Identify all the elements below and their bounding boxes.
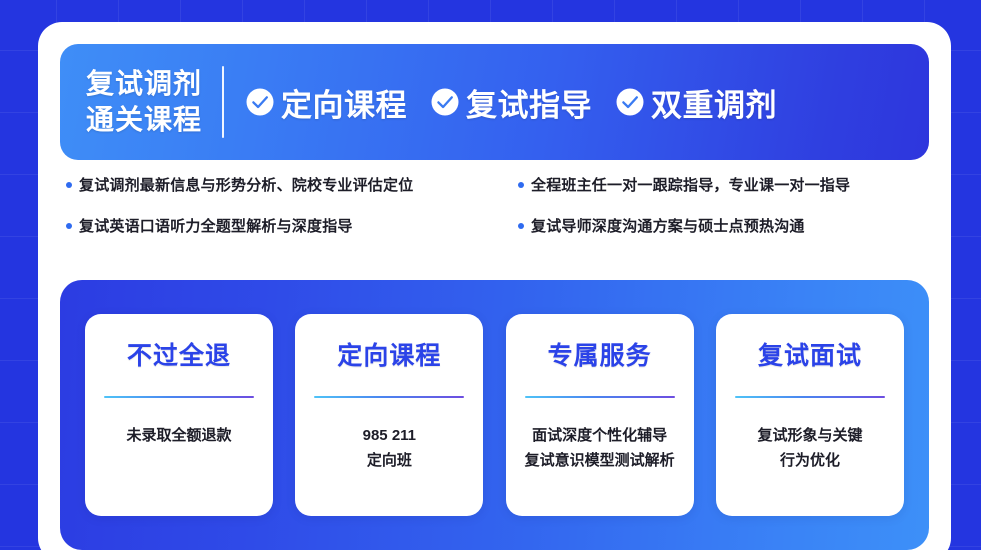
- card-body-line: 未录取全额退款: [126, 424, 231, 449]
- info-card-4: 复试面试 复试形象与关键 行为优化: [716, 314, 904, 516]
- card-divider: [314, 396, 464, 398]
- bullet-item: 全程班主任一对一跟踪指导，专业课一对一指导: [518, 174, 926, 195]
- info-card-3: 专属服务 面试深度个性化辅导 复试意识模型测试解析: [506, 314, 694, 516]
- bullet-item: 复试导师深度沟通方案与硕士点预热沟通: [518, 215, 926, 236]
- info-card-2: 定向课程 985 211 定向班: [295, 314, 483, 516]
- bullet-column-left: 复试调剂最新信息与形势分析、院校专业评估定位 复试英语口语听力全题型解析与深度指…: [66, 174, 518, 236]
- banner-feature-1: 定向课程: [246, 80, 407, 125]
- card-body-line: 行为优化: [757, 449, 862, 474]
- banner-feature-label: 定向课程: [281, 80, 407, 125]
- banner-feature-3: 双重调剂: [616, 80, 777, 125]
- check-circle-icon: [246, 88, 274, 116]
- card-title: 不过全退: [127, 336, 231, 372]
- banner-feature-label: 双重调剂: [651, 80, 777, 125]
- bullet-text: 复试导师深度沟通方案与硕士点预热沟通: [531, 215, 805, 236]
- card-body: 面试深度个性化辅导 复试意识模型测试解析: [525, 424, 675, 474]
- card-title: 定向课程: [337, 336, 441, 372]
- banner-title-line-1: 复试调剂: [86, 66, 202, 102]
- card-divider: [735, 396, 885, 398]
- card-body-line: 985 211: [363, 424, 416, 449]
- bullet-dot-icon: [66, 182, 72, 188]
- bullet-dot-icon: [66, 223, 72, 229]
- card-body-line: 面试深度个性化辅导: [525, 424, 675, 449]
- bullet-dot-icon: [518, 223, 524, 229]
- card-title: 复试面试: [758, 336, 862, 372]
- bullet-text: 复试英语口语听力全题型解析与深度指导: [79, 215, 353, 236]
- card-title: 专属服务: [548, 336, 652, 372]
- card-body: 复试形象与关键 行为优化: [757, 424, 862, 474]
- banner-divider: [222, 66, 224, 138]
- banner-title-line-2: 通关课程: [86, 102, 202, 138]
- bullet-item: 复试英语口语听力全题型解析与深度指导: [66, 215, 518, 236]
- content-sheet: 复试调剂 通关课程 定向课程: [38, 22, 951, 550]
- poster-root: 复试调剂 通关课程 定向课程: [0, 0, 981, 550]
- banner-title: 复试调剂 通关课程: [86, 66, 202, 138]
- card-divider: [525, 396, 675, 398]
- card-body: 985 211 定向班: [363, 424, 416, 474]
- info-card-1: 不过全退 未录取全额退款: [85, 314, 273, 516]
- cards-panel: 不过全退 未录取全额退款 定向课程 985 211 定向班 专属服务 面试深度个…: [60, 280, 929, 550]
- feature-bullet-area: 复试调剂最新信息与形势分析、院校专业评估定位 复试英语口语听力全题型解析与深度指…: [66, 174, 926, 236]
- card-body-line: 复试意识模型测试解析: [525, 449, 675, 474]
- bullet-column-right: 全程班主任一对一跟踪指导，专业课一对一指导 复试导师深度沟通方案与硕士点预热沟通: [518, 174, 926, 236]
- header-banner: 复试调剂 通关课程 定向课程: [60, 44, 929, 160]
- check-circle-icon: [431, 88, 459, 116]
- card-divider: [104, 396, 254, 398]
- card-body-line: 定向班: [363, 449, 416, 474]
- card-body-line: 复试形象与关键: [757, 424, 862, 449]
- bullet-text: 复试调剂最新信息与形势分析、院校专业评估定位: [79, 174, 413, 195]
- bullet-item: 复试调剂最新信息与形势分析、院校专业评估定位: [66, 174, 518, 195]
- check-circle-icon: [616, 88, 644, 116]
- bullet-text: 全程班主任一对一跟踪指导，专业课一对一指导: [531, 174, 850, 195]
- banner-feature-label: 复试指导: [466, 80, 592, 125]
- bullet-dot-icon: [518, 182, 524, 188]
- card-body: 未录取全额退款: [126, 424, 231, 449]
- banner-feature-list: 定向课程 复试指导: [246, 80, 929, 125]
- banner-feature-2: 复试指导: [431, 80, 592, 125]
